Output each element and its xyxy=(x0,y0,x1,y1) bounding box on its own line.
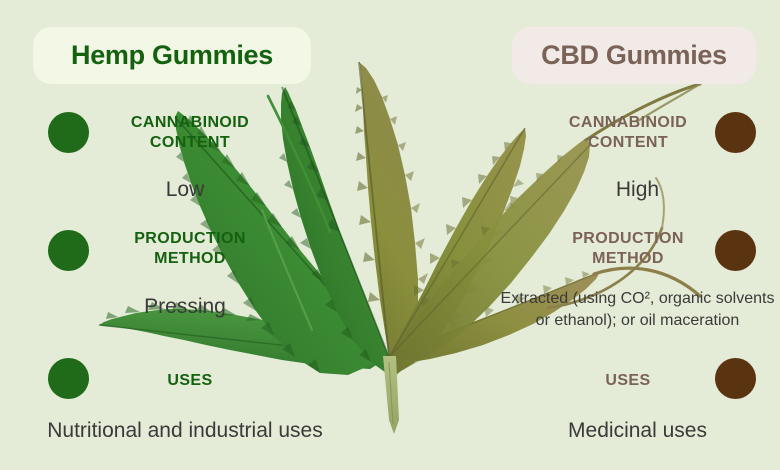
left-value-uses: Nutritional and industrial uses xyxy=(20,417,350,444)
left-label-line2: METHOD xyxy=(90,249,290,269)
left-label-production-method: PRODUCTION METHOD xyxy=(90,229,290,270)
left-label-line2: CONTENT xyxy=(90,133,290,153)
left-marker-dot-cannabinoid-content xyxy=(48,112,89,153)
left-label-line1: USES xyxy=(90,371,290,391)
right-label-uses: USES xyxy=(553,371,703,391)
right-label-line1: CANNABINOID xyxy=(553,113,703,133)
infographic-canvas: Hemp Gummies CBD Gummies CANNABINOID CON… xyxy=(0,0,780,470)
right-label-line2: CONTENT xyxy=(553,133,703,153)
right-marker-dot-production-method xyxy=(715,230,756,271)
right-label-line2: METHOD xyxy=(553,249,703,269)
left-label-uses: USES xyxy=(90,371,290,391)
hemp-gummies-title-pill: Hemp Gummies xyxy=(33,27,311,84)
left-value-cannabinoid-content: Low xyxy=(20,176,350,203)
left-value-production-method: Pressing xyxy=(20,293,350,320)
left-label-line1: PRODUCTION xyxy=(90,229,290,249)
right-label-production-method: PRODUCTION METHOD xyxy=(553,229,703,270)
right-value-uses: Medicinal uses xyxy=(500,417,775,444)
left-label-cannabinoid-content: CANNABINOID CONTENT xyxy=(90,113,290,154)
right-label-line1: USES xyxy=(553,371,703,391)
left-label-line1: CANNABINOID xyxy=(90,113,290,133)
right-marker-dot-cannabinoid-content xyxy=(715,112,756,153)
cbd-gummies-title-pill: CBD Gummies xyxy=(512,27,756,84)
right-marker-dot-uses xyxy=(715,358,756,399)
right-label-cannabinoid-content: CANNABINOID CONTENT xyxy=(553,113,703,154)
left-marker-dot-production-method xyxy=(48,230,89,271)
left-marker-dot-uses xyxy=(48,358,89,399)
right-value-production-method: Extracted (using CO², organic solvents o… xyxy=(500,288,775,331)
right-value-cannabinoid-content: High xyxy=(500,176,775,203)
right-label-line1: PRODUCTION xyxy=(553,229,703,249)
